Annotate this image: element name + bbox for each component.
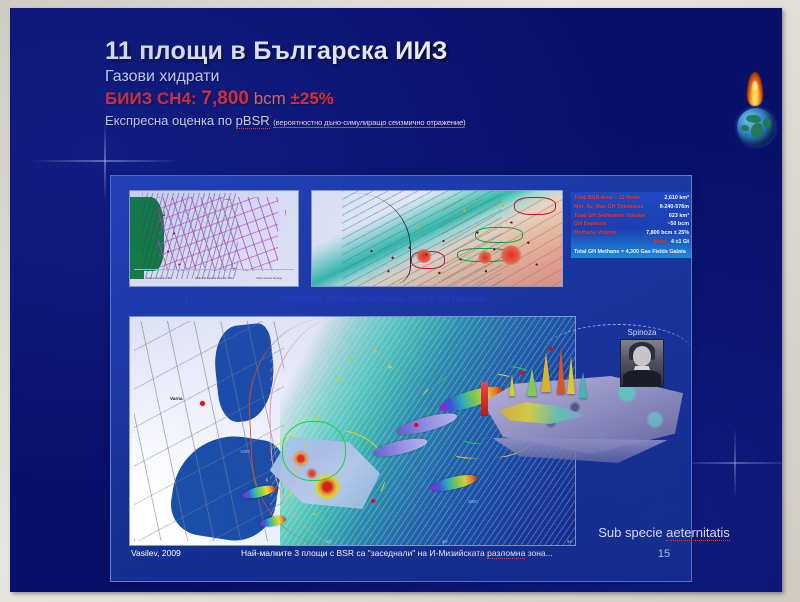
galata-term: Galata <box>669 249 685 256</box>
caption-detail: Bathymetry, BSR area (Halliburton, 1992)… <box>281 294 485 303</box>
axis-tick-x2: 30° <box>442 539 448 544</box>
spinoza-portrait <box>620 339 664 387</box>
content-panel: Seismic lines HC - BG Wide Part Seismic … <box>110 175 692 582</box>
top-maps-caption: GEO-HYDRATE - Black Sea, BG Part:Bathyme… <box>131 294 485 303</box>
slide-header: 11 площи в Българска ИИЗ Газови хидрати … <box>105 38 705 128</box>
page-title: 11 площи в Българска ИИЗ <box>105 38 705 64</box>
stat-value: ~50 bcm <box>663 220 689 229</box>
contour-label-1000: 1000 <box>240 449 250 454</box>
methane-tolerance: ±25% <box>291 89 334 108</box>
axis-tick-y1: 43° <box>131 429 137 434</box>
city-label-varna: Varna <box>170 396 183 401</box>
pbsr-term: pBSR <box>236 113 270 129</box>
station-points <box>152 201 192 273</box>
caption-main: GEO-HYDRATE - Black Sea, BG Part: <box>131 294 273 303</box>
stat-row: Methane Volume 7,800 bcm ± 25% <box>574 229 689 238</box>
bathymetry-bsr-map[interactable]: GEO-HYDRATE - BG Black Sea, Bathymetry, … <box>311 190 563 287</box>
stat-value: 4 ±1 Gt <box>667 238 689 247</box>
source-citation: Vasilev, 2009 <box>131 548 181 558</box>
footer-note-prefix: Най-малките 3 площи с BSR са "заседнали"… <box>241 548 487 558</box>
fault-term: разломна <box>487 548 525 559</box>
slide-subtitle: Газови хидрати <box>105 68 705 86</box>
color-scale-bar <box>481 382 488 416</box>
contour-label-2000: 2000 <box>468 499 478 504</box>
thickness-spike-4 <box>527 368 537 396</box>
stat-row: Mass 4 ±1 Gt <box>574 238 689 247</box>
stat-value: 623 km³ <box>665 212 689 221</box>
legend-item-0: Seismic lines HC - BG <box>146 277 172 280</box>
screenshot-frame: 11 площи в Българска ИИЗ Газови хидрати … <box>0 0 800 602</box>
map-legend: Seismic lines HC - BG Wide Part Seismic … <box>134 269 294 284</box>
stat-row: GH Deposits ~50 bcm <box>574 220 689 229</box>
method-note: Експресна оценка по pBSR (вероятностно д… <box>105 113 705 128</box>
quote-prefix: Sub specie <box>598 525 666 540</box>
legend-item-1: Wide Part Seismic lines HC - BG <box>195 277 233 280</box>
method-note-prefix: Експресна оценка по <box>105 113 236 128</box>
axis-tick-x3: 31° <box>567 539 573 544</box>
methane-headline: БИИЗ CH4: 7,800 bcm ±25% <box>105 88 705 110</box>
thickness-spike-2 <box>557 346 565 394</box>
survey-lines-map[interactable]: Seismic lines HC - BG Wide Part Seismic … <box>129 190 299 287</box>
thickness-spike-5 <box>579 372 587 398</box>
globe-icon <box>737 108 775 146</box>
methane-value: 7,800 <box>201 88 249 109</box>
stat-row: Total BSR Area – 11 fields 2,610 km² <box>574 194 689 203</box>
methane-label: БИИЗ CH4: <box>105 89 201 108</box>
stat-total: Total GH Methane = 4,300 Gas Fields Gala… <box>574 248 689 257</box>
stat-key: Total BSR Area – 11 fields <box>574 194 640 203</box>
latin-quote: Sub specie aeternitatis <box>579 525 749 540</box>
axis-tick-y0: 44° <box>131 357 137 362</box>
axis-tick-x0: 28° <box>208 539 214 544</box>
thickness-spike-6 <box>509 374 515 396</box>
stat-key: Methane Volume <box>574 229 616 238</box>
stat-key: Total GH Sediments Volume <box>574 212 645 221</box>
stat-value: 8-240-576m <box>656 203 689 212</box>
stat-value: 7,800 bcm ± 25% <box>642 229 689 238</box>
pbsr-expansion: (вероятностно дъно-симулиращо сеизмично … <box>273 118 465 128</box>
well-points <box>346 199 558 283</box>
stat-key: GH Deposits <box>574 220 606 229</box>
spinoza-block: Spinoza <box>596 328 688 387</box>
presentation-slide: 11 площи в Българска ИИЗ Газови хидрати … <box>10 8 782 592</box>
axis-tick-y2: 42° <box>131 505 137 510</box>
stat-key: Mass <box>654 238 668 247</box>
legend-item-2: Other seismic Surveys <box>256 277 282 280</box>
axis-tick-x1: 29° <box>326 539 332 544</box>
stat-value: 2,610 km² <box>660 194 689 203</box>
stat-key: Min, Av, Max GH Thickness <box>574 203 643 212</box>
stat-row: Min, Av, Max GH Thickness 8-240-576m <box>574 203 689 212</box>
methane-unit: bcm <box>249 89 291 108</box>
quote-underlined: aeternitatis <box>666 525 730 541</box>
flame-icon <box>747 72 763 106</box>
footer-note-suffix: зона... <box>525 548 552 558</box>
thickness-spike-3 <box>567 356 575 394</box>
stat-total-prefix: Total GH Methane = 4,300 Gas Fields <box>574 249 669 255</box>
surface-base-skirt <box>485 438 675 464</box>
geohydrate-logo <box>734 72 778 152</box>
footer-note: Най-малките 3 площи с BSR са "заседнали"… <box>241 548 553 558</box>
page-number: 15 <box>579 548 749 560</box>
thickness-spike-1 <box>541 352 551 392</box>
philosopher-label: Spinoza <box>596 328 688 337</box>
city-marker-varna <box>200 401 205 406</box>
statistics-box: Total BSR Area – 11 fields 2,610 km² Min… <box>571 192 691 258</box>
stat-row: Total GH Sediments Volume 623 km³ <box>574 212 689 221</box>
